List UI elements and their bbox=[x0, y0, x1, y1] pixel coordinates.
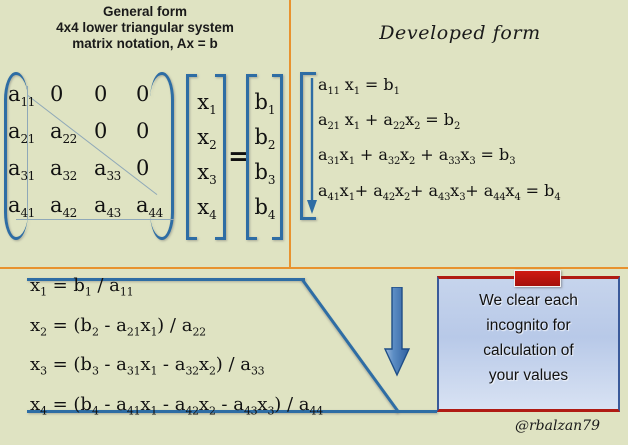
developed-form-title: Developed form bbox=[300, 22, 620, 44]
matrix-cell-text: a32 bbox=[50, 156, 77, 180]
matrix-cell-text: 0 bbox=[50, 82, 63, 106]
horizontal-divider bbox=[0, 267, 628, 269]
x-vector-cell: x4 bbox=[190, 195, 224, 222]
matrix-cell: a33 bbox=[94, 156, 121, 183]
matrix-row: a41 a42 a43 a44 bbox=[6, 193, 166, 227]
callout-text: We clear each incognito for calculation … bbox=[441, 288, 616, 388]
callout-line1: We clear each bbox=[441, 288, 616, 313]
developed-equation: a21 x1 + a22x2 = b2 bbox=[318, 111, 618, 135]
slide-canvas: General form 4x4 lower triangular system… bbox=[0, 0, 628, 445]
callout-line4: your values bbox=[441, 363, 616, 388]
developed-equations-list: a11 x1 = b1 a21 x1 + a22x2 = b2 a31x1 + … bbox=[318, 76, 618, 217]
coefficient-matrix: a11 0 0 0 a21 a22 0 0 a31 a32 a33 0 a41 … bbox=[6, 82, 166, 222]
b-vector-cell: b4 bbox=[248, 195, 282, 222]
matrix-cell-text: a22 bbox=[50, 119, 77, 143]
matrix-cell: a11 bbox=[8, 82, 35, 109]
matrix-cell: a31 bbox=[8, 156, 35, 183]
matrix-cell: a44 bbox=[136, 193, 163, 220]
matrix-cell: a22 bbox=[50, 119, 77, 146]
matrix-cell: a21 bbox=[8, 119, 35, 146]
vertical-divider bbox=[289, 0, 291, 269]
matrix-cell-text: a33 bbox=[94, 156, 121, 180]
b-vector-cell: b2 bbox=[248, 125, 282, 152]
matrix-cell-text: a44 bbox=[136, 193, 163, 217]
general-form-title: General form 4x4 lower triangular system… bbox=[0, 4, 290, 52]
matrix-cell-text: a21 bbox=[8, 119, 35, 143]
matrix-cell: 0 bbox=[136, 82, 149, 106]
matrix-cell: 0 bbox=[50, 82, 63, 106]
callout-tab bbox=[514, 270, 561, 287]
matrix-cell-text: a31 bbox=[8, 156, 35, 180]
general-form-title-line1: General form bbox=[0, 4, 290, 20]
matrix-cell: 0 bbox=[136, 119, 149, 143]
x-vector-cell: x2 bbox=[190, 125, 224, 152]
b-vector-cell: b1 bbox=[248, 90, 282, 117]
matrix-cell: a32 bbox=[50, 156, 77, 183]
matrix-cell-text: a42 bbox=[50, 193, 77, 217]
matrix-cell: a42 bbox=[50, 193, 77, 220]
b-vector-cell: b3 bbox=[248, 160, 282, 187]
matrix-cell-text: 0 bbox=[94, 119, 107, 143]
matrix-cell-text: 0 bbox=[136, 82, 149, 106]
solution-equation: x4 = (b4 - a41x1 - a42x2 - a43x3) / a44 bbox=[30, 395, 450, 421]
matrix-cell: 0 bbox=[136, 156, 149, 180]
matrix-row: a11 0 0 0 bbox=[6, 82, 166, 116]
matrix-cell: 0 bbox=[94, 82, 107, 106]
matrix-cell-text: a41 bbox=[8, 193, 35, 217]
matrix-cell: a41 bbox=[8, 193, 35, 220]
callout-line3: calculation of bbox=[441, 338, 616, 363]
matrix-row: a21 a22 0 0 bbox=[6, 119, 166, 153]
x-vector-cell: x1 bbox=[190, 90, 224, 117]
matrix-cell: 0 bbox=[94, 119, 107, 143]
author-watermark: @rbalzan79 bbox=[495, 418, 620, 434]
matrix-cell: a43 bbox=[94, 193, 121, 220]
matrix-cell-text: a43 bbox=[94, 193, 121, 217]
matrix-cell-text: 0 bbox=[136, 119, 149, 143]
matrix-row: a31 a32 a33 0 bbox=[6, 156, 166, 190]
general-form-title-line3: matrix notation, Ax = b bbox=[0, 36, 290, 52]
developed-equation: a31x1 + a32x2 + a33x3 = b3 bbox=[318, 146, 618, 170]
matrix-cell-text: a11 bbox=[8, 82, 35, 106]
callout-line2: incognito for bbox=[441, 313, 616, 338]
developed-form-down-arrow-icon bbox=[306, 76, 318, 216]
developed-equation: a41x1+ a42x2+ a43x3+ a44x4 = b4 bbox=[318, 182, 618, 206]
matrix-cell-text: 0 bbox=[94, 82, 107, 106]
general-form-title-line2: 4x4 lower triangular system bbox=[0, 20, 290, 36]
matrix-cell-text: 0 bbox=[136, 156, 149, 180]
big-down-arrow-icon bbox=[383, 287, 411, 377]
x-vector-cell: x3 bbox=[190, 160, 224, 187]
developed-equation: a11 x1 = b1 bbox=[318, 76, 618, 100]
